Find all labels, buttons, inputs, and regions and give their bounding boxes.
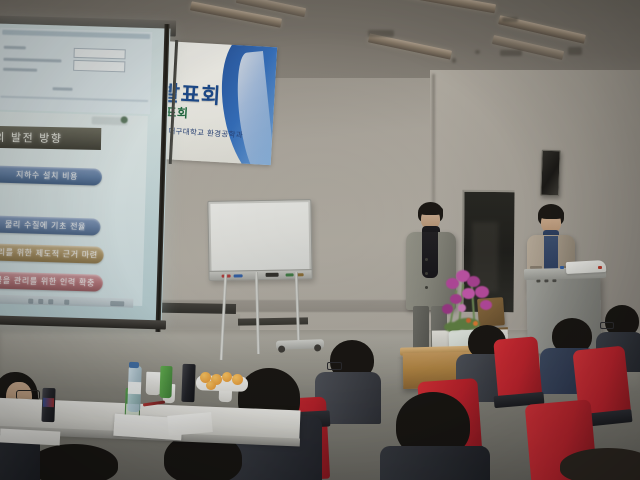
wall-speaker-icon (540, 150, 561, 197)
beverage-can[interactable] (181, 364, 195, 402)
orchid-accent-berry (473, 321, 478, 326)
photograph-conference-presentation: 발표회 표회 대구대학교 환경공학과 으로의 발전 방향 (0, 0, 640, 480)
mandarin-orange (222, 372, 232, 382)
orchid-flower (442, 304, 453, 314)
coat-button (425, 272, 428, 275)
desktop-taskbar[interactable] (0, 294, 133, 308)
eyeglasses-icon (600, 322, 614, 329)
whiteboard-surface[interactable] (210, 202, 309, 271)
slide-node: 물을 관리를 위한 인력 확충 (0, 271, 103, 291)
window-input-field[interactable] (74, 48, 126, 60)
mandarin-orange (206, 381, 216, 390)
podium-control-button[interactable] (552, 279, 556, 282)
whiteboard[interactable] (207, 199, 312, 281)
presentation-slide: 으로의 발전 방향 지하수 설치 비용 물리 수질에 기초 전율 관리를 위한 … (0, 111, 148, 306)
ceiling-light-fixture (492, 35, 564, 60)
beverage-bottle[interactable] (159, 366, 172, 398)
slide-node: 관리를 위한 제도적 근거 마련 (0, 243, 104, 264)
orchid-flower (475, 286, 489, 298)
slide-node: 지하수 설치 비용 (0, 165, 102, 185)
orchid-flower (480, 300, 492, 310)
slide-title-text: 으로의 발전 방향 (0, 128, 99, 147)
ceiling-vent (568, 47, 582, 55)
slide-node-label: 지하수 설치 비용 (16, 170, 78, 181)
window-text-line (4, 46, 26, 50)
slide-node-label: 물리 수질에 기초 전율 (5, 220, 86, 231)
orchid-accent-berry (466, 318, 471, 323)
hair-fringe (419, 205, 443, 215)
ceiling-vent (502, 17, 518, 22)
taskbar-icon[interactable] (38, 299, 43, 304)
taskbar-clock (110, 301, 124, 306)
window-text-line (53, 87, 73, 91)
hair-fringe (539, 208, 564, 219)
whiteboard-marker[interactable] (286, 273, 294, 276)
handout-paper[interactable] (167, 412, 213, 436)
coat-button (425, 286, 428, 289)
whiteboard-eraser[interactable] (266, 273, 279, 277)
orchid-flower (462, 288, 475, 299)
orchid-flower (467, 276, 480, 287)
eyeglasses-icon (327, 362, 342, 370)
taskbar-icon[interactable] (64, 300, 69, 305)
ceiling-vent (368, 30, 394, 37)
mandarin-orange (232, 374, 243, 385)
whiteboard-marker[interactable] (234, 274, 243, 277)
bottle-cap-icon (129, 362, 139, 368)
ceiling-vent (500, 50, 522, 56)
podium-control-button[interactable] (544, 279, 548, 282)
slide-node: 물리 수질에 기초 전율 (0, 215, 101, 235)
orchid-flower (450, 294, 462, 304)
banner-subtitle: 표회 (165, 103, 242, 124)
window-input-field[interactable] (73, 60, 125, 73)
audience-torso (380, 446, 490, 480)
coat-button (425, 258, 428, 261)
ceiling-sprinkler (452, 58, 456, 63)
podium-control-button[interactable] (536, 279, 540, 282)
audience-head (30, 444, 118, 480)
ceiling-light-fixture (400, 0, 496, 13)
taskbar-icon[interactable] (48, 299, 53, 304)
ceiling-light-fixture (368, 33, 452, 59)
slide-node-label: 물을 관리를 위한 인력 확충 (0, 276, 95, 288)
podium-indicator-light-icon (560, 266, 564, 269)
taskbar-icon[interactable] (28, 299, 33, 304)
podium-indicator-light-icon (598, 266, 602, 269)
whiteboard-stand-base (276, 339, 324, 350)
slide-node-label: 관리를 위한 제도적 근거 마련 (0, 247, 98, 259)
projection-screen: 으로의 발전 방향 지하수 설치 비용 물리 수질에 기초 전율 관리를 위한 … (0, 23, 170, 328)
can-label (43, 398, 54, 407)
bottle-label (128, 382, 141, 394)
orchid-bud (458, 304, 466, 312)
coat-lapel (422, 232, 438, 278)
audience-head (560, 448, 640, 480)
ceiling-smoke-detector (475, 50, 480, 54)
